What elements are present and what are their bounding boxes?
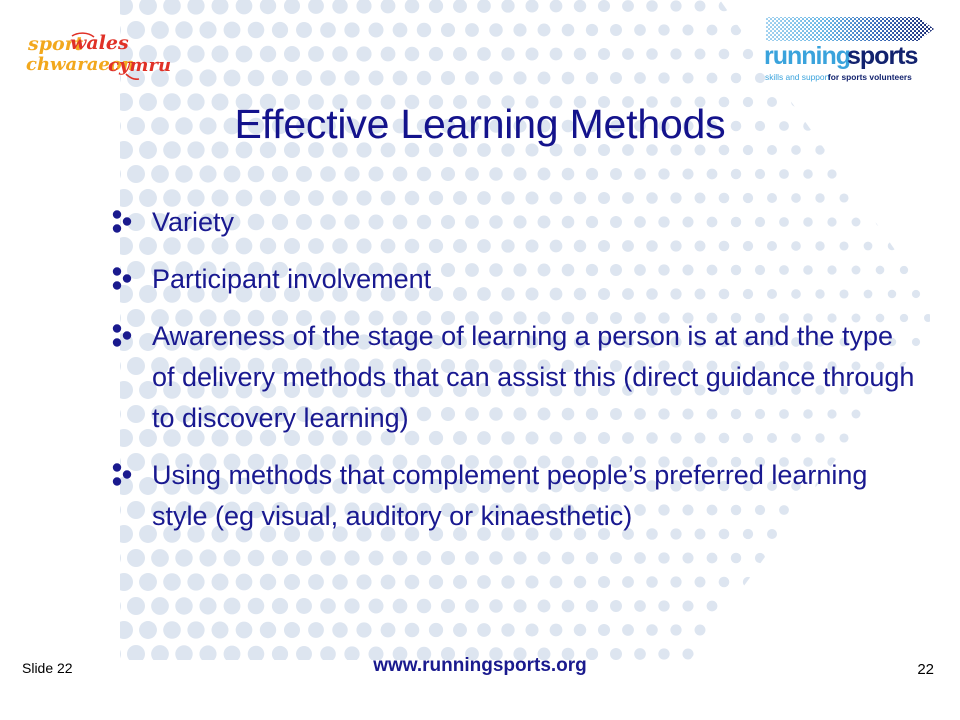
runningsports-tagline-part2: for sports volunteers [828, 72, 912, 82]
runningsports-word-running: running [764, 42, 850, 70]
runningsports-tagline-part1: skills and support [765, 72, 830, 82]
runningsports-arrow-icon [766, 17, 934, 41]
slide-canvas: sport wales chwaraeon cymru [0, 0, 960, 720]
three-dot-bullet-icon [112, 267, 134, 291]
sport-wales-word-cymru: cymru [108, 55, 171, 76]
three-dot-bullet-icon [112, 210, 134, 234]
page-title: Effective Learning Methods [60, 103, 900, 146]
list-item-label: Using methods that complement people’s p… [152, 455, 918, 537]
bullet-list: Variety Participant involvement Awar [108, 202, 918, 537]
sport-wales-word-wales: wales [70, 32, 129, 54]
footer-page-number: 22 [917, 661, 934, 678]
runningsports-word-sports: sports [847, 42, 918, 70]
runningsports-logo: running sports skills and support for sp… [758, 12, 950, 94]
list-item-label: Variety [152, 202, 918, 243]
list-item-label: Participant involvement [152, 259, 918, 300]
footer-url: www.runningsports.org [0, 655, 960, 677]
list-item: Participant involvement [108, 259, 918, 300]
list-item: Using methods that complement people’s p… [108, 455, 918, 537]
list-item: Awareness of the stage of learning a per… [108, 316, 918, 439]
list-item-label: Awareness of the stage of learning a per… [152, 316, 918, 439]
three-dot-bullet-icon [112, 463, 134, 487]
sport-wales-logo: sport wales chwaraeon cymru [26, 28, 186, 80]
list-item: Variety [108, 202, 918, 243]
three-dot-bullet-icon [112, 324, 134, 348]
